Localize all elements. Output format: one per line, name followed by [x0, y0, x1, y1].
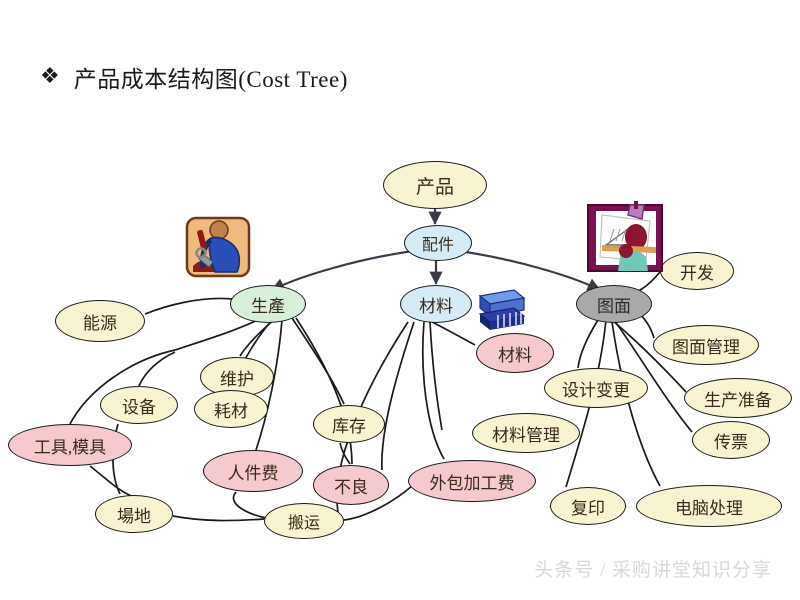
node-label: 开发 — [680, 259, 714, 284]
node-label: 能源 — [83, 309, 117, 334]
node-label: 设计变更 — [562, 376, 630, 401]
edge-hub-to-shebei — [139, 352, 175, 386]
node-label: 图面 — [597, 292, 631, 317]
node-buliang[interactable]: 不良 — [313, 465, 389, 505]
edge-changdi-to-banyun — [173, 516, 264, 521]
node-tumian[interactable]: 图面 — [576, 285, 652, 323]
worker-tools-icon — [185, 216, 251, 278]
node-kaifa[interactable]: 开发 — [660, 252, 734, 290]
edge-gongjumoju-to-changdi — [90, 466, 134, 497]
edge-shengchan-to-nengyuan — [145, 298, 232, 314]
node-waibaojiagong[interactable]: 外包加工费 — [408, 460, 536, 502]
node-label: 电脑处理 — [675, 494, 743, 519]
node-label: 设备 — [122, 393, 156, 418]
node-label: 生产准备 — [704, 386, 772, 411]
node-label: 复印 — [571, 494, 605, 519]
node-label: 耗材 — [214, 397, 248, 422]
drafting-design-icon — [584, 201, 670, 277]
node-label: 場地 — [117, 502, 151, 527]
node-label: 材料 — [498, 341, 532, 366]
ic-chip-icon — [474, 288, 528, 332]
edge-peijian-to-tumian — [452, 250, 600, 290]
edge-peijian-to-shengchan — [272, 250, 420, 290]
node-shejibiangeng[interactable]: 设计变更 — [544, 368, 648, 408]
node-label: 外包加工费 — [430, 469, 515, 494]
edge-tumian-to-shejibiangeng — [578, 320, 598, 368]
node-label: 维护 — [220, 365, 254, 390]
node-shengchanzhunbei[interactable]: 生产准备 — [684, 378, 792, 418]
edge-cailiao-blue-to-waibaojiagong — [423, 322, 444, 459]
node-peijian[interactable]: 配件 — [404, 225, 472, 261]
node-gongjumoju[interactable]: 工具,模具 — [8, 424, 132, 466]
node-label: 配件 — [422, 231, 454, 255]
node-chanpin[interactable]: 产品 — [383, 161, 487, 209]
node-fuyin[interactable]: 复印 — [550, 487, 626, 525]
node-nengyuan[interactable]: 能源 — [55, 300, 145, 342]
node-label: 人件费 — [228, 459, 279, 484]
node-chuanpiao[interactable]: 传票 — [692, 421, 770, 459]
node-label: 搬运 — [288, 509, 320, 533]
node-cailiao-pink[interactable]: 材料 — [476, 333, 554, 373]
node-haocai[interactable]: 耗材 — [194, 390, 268, 428]
node-label: 生產 — [251, 292, 285, 317]
watermark: 头条号 / 采购讲堂知识分享 — [534, 555, 772, 582]
node-kucun[interactable]: 库存 — [313, 405, 385, 443]
node-label: 不良 — [334, 473, 368, 498]
node-renjianfei[interactable]: 人件费 — [203, 450, 303, 492]
node-label: 材料 — [419, 292, 453, 317]
node-changdi[interactable]: 場地 — [95, 495, 173, 533]
node-shebei[interactable]: 设备 — [100, 386, 178, 424]
node-tumianguanli[interactable]: 图面管理 — [653, 325, 759, 365]
node-cailiaoguanli[interactable]: 材料管理 — [472, 413, 580, 453]
edge-cailiao-blue-to-cailiao-pink — [432, 322, 475, 345]
node-label: 产品 — [416, 172, 454, 199]
node-label: 传票 — [714, 428, 748, 453]
node-banyun[interactable]: 搬运 — [264, 503, 344, 539]
node-shengchan[interactable]: 生產 — [230, 285, 306, 323]
node-label: 图面管理 — [672, 333, 740, 358]
cost-tree-diagram: ❖ 产品成本结构图(Cost Tree) 产品配件生產材料图面能源维护设备耗材工… — [0, 0, 800, 600]
edge-renjianfei-to-banyun — [233, 492, 266, 518]
node-label: 库存 — [332, 412, 366, 437]
node-diannaochuli[interactable]: 电脑处理 — [636, 485, 782, 527]
edge-cailiao-blue-to-buliang — [382, 322, 414, 470]
node-label: 材料管理 — [492, 421, 560, 446]
edge-cailiao-blue-to-cailiaoguanli — [430, 322, 442, 430]
node-label: 工具,模具 — [34, 433, 106, 458]
node-cailiao-blue[interactable]: 材料 — [400, 285, 472, 323]
